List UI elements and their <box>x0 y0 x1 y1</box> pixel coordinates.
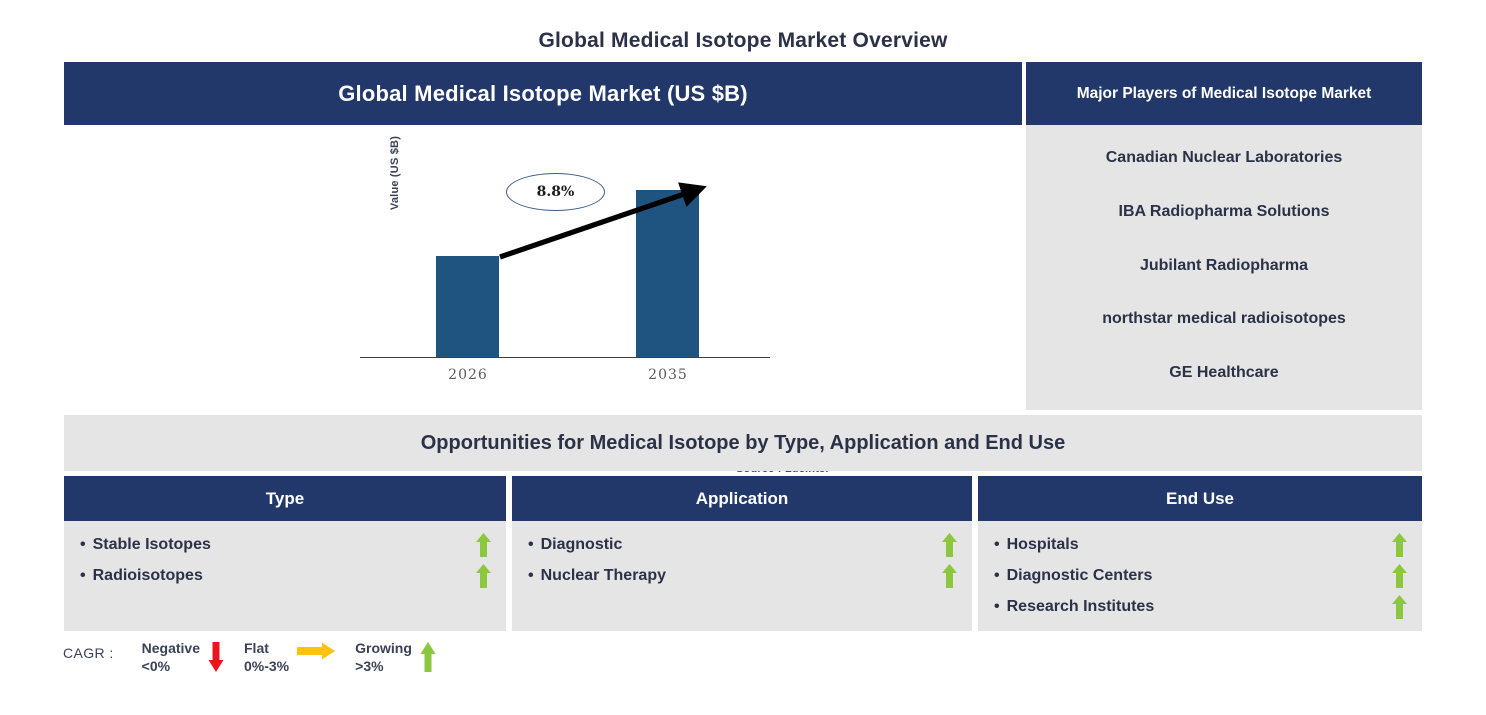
legend-entry-flat: Flat 0%-3% <box>244 640 349 675</box>
arrow-right-icon <box>297 640 335 660</box>
legend-name: Negative <box>142 640 200 658</box>
bullet-icon: • <box>528 537 534 553</box>
segment-column-end-use: End Use • Hospitals • Diagnostic Centers <box>978 476 1422 631</box>
arrow-up-icon <box>475 564 492 588</box>
bullet-icon: • <box>80 568 86 584</box>
market-chart-panel: Global Medical Isotope Market (US $B) Va… <box>64 62 1022 410</box>
list-item: • Radioisotopes <box>64 560 506 591</box>
arrow-up-icon <box>941 533 958 557</box>
chart-panel-header: Global Medical Isotope Market (US $B) <box>64 62 1022 125</box>
list-item-label: Research Institutes <box>1007 598 1391 616</box>
infographic-page: Global Medical Isotope Market Overview G… <box>0 0 1486 715</box>
legend-range: <0% <box>142 658 200 676</box>
bullet-icon: • <box>994 537 1000 553</box>
segment-column-application: Application • Diagnostic • Nuclear Thera… <box>512 476 972 631</box>
cagr-legend: CAGR : Negative <0% Flat 0%-3% Growing >… <box>63 640 456 686</box>
arrow-up-icon <box>420 640 436 672</box>
arrow-up-icon <box>941 564 958 588</box>
segment-header-application: Application <box>512 476 972 521</box>
legend-range: >3% <box>355 658 412 676</box>
arrow-up-icon <box>1391 533 1408 557</box>
legend-label-growing: Growing >3% <box>355 640 412 675</box>
segment-header-type: Type <box>64 476 506 521</box>
list-item: • Diagnostic Centers <box>978 560 1422 591</box>
bullet-icon: • <box>994 568 1000 584</box>
opportunities-banner: Opportunities for Medical Isotope by Typ… <box>64 415 1422 471</box>
legend-name: Flat <box>244 640 289 658</box>
cagr-legend-title: CAGR : <box>63 640 114 661</box>
cagr-callout: 8.8% <box>506 173 605 211</box>
legend-name: Growing <box>355 640 412 658</box>
bullet-icon: • <box>80 537 86 553</box>
segment-list-type: • Stable Isotopes • Radioisotopes <box>64 521 506 591</box>
players-list: Canadian Nuclear Laboratories IBA Radiop… <box>1026 125 1422 410</box>
arrow-up-icon <box>475 533 492 557</box>
legend-entry-negative: Negative <0% <box>142 640 238 675</box>
bar-plot: 2026 2035 8.8% <box>360 135 770 410</box>
list-item: northstar medical radioisotopes <box>1102 310 1346 328</box>
list-item-label: Radioisotopes <box>93 567 475 585</box>
chart-body: Value (US $B) 2026 2035 <box>64 125 1022 410</box>
legend-range: 0%-3% <box>244 658 289 676</box>
list-item: • Diagnostic <box>512 529 972 560</box>
list-item-label: Diagnostic <box>541 536 941 554</box>
list-item: • Research Institutes <box>978 591 1422 622</box>
list-item: Canadian Nuclear Laboratories <box>1106 149 1343 167</box>
list-item: • Hospitals <box>978 529 1422 560</box>
segment-column-type: Type • Stable Isotopes • Radioisotopes <box>64 476 506 631</box>
list-item: Jubilant Radiopharma <box>1140 257 1308 275</box>
players-panel-header: Major Players of Medical Isotope Market <box>1026 62 1422 125</box>
list-item: • Stable Isotopes <box>64 529 506 560</box>
segment-list-application: • Diagnostic • Nuclear Therapy <box>512 521 972 591</box>
list-item: IBA Radiopharma Solutions <box>1119 203 1330 221</box>
segment-list-end-use: • Hospitals • Diagnostic Centers • Resea… <box>978 521 1422 622</box>
arrow-down-icon <box>208 640 224 672</box>
list-item-label: Nuclear Therapy <box>541 567 941 585</box>
major-players-panel: Major Players of Medical Isotope Market … <box>1026 62 1422 410</box>
page-title: Global Medical Isotope Market Overview <box>0 29 1486 53</box>
list-item-label: Hospitals <box>1007 536 1391 554</box>
list-item-label: Diagnostic Centers <box>1007 567 1391 585</box>
list-item-label: Stable Isotopes <box>93 536 475 554</box>
bullet-icon: • <box>994 599 1000 615</box>
legend-entry-growing: Growing >3% <box>355 640 450 675</box>
legend-label-negative: Negative <0% <box>142 640 200 675</box>
legend-label-flat: Flat 0%-3% <box>244 640 289 675</box>
bullet-icon: • <box>528 568 534 584</box>
segments-row: Type • Stable Isotopes • Radioisotopes <box>64 476 1422 631</box>
list-item: GE Healthcare <box>1169 364 1278 382</box>
arrow-up-icon <box>1391 564 1408 588</box>
segment-header-end-use: End Use <box>978 476 1422 521</box>
arrow-up-icon <box>1391 595 1408 619</box>
list-item: • Nuclear Therapy <box>512 560 972 591</box>
